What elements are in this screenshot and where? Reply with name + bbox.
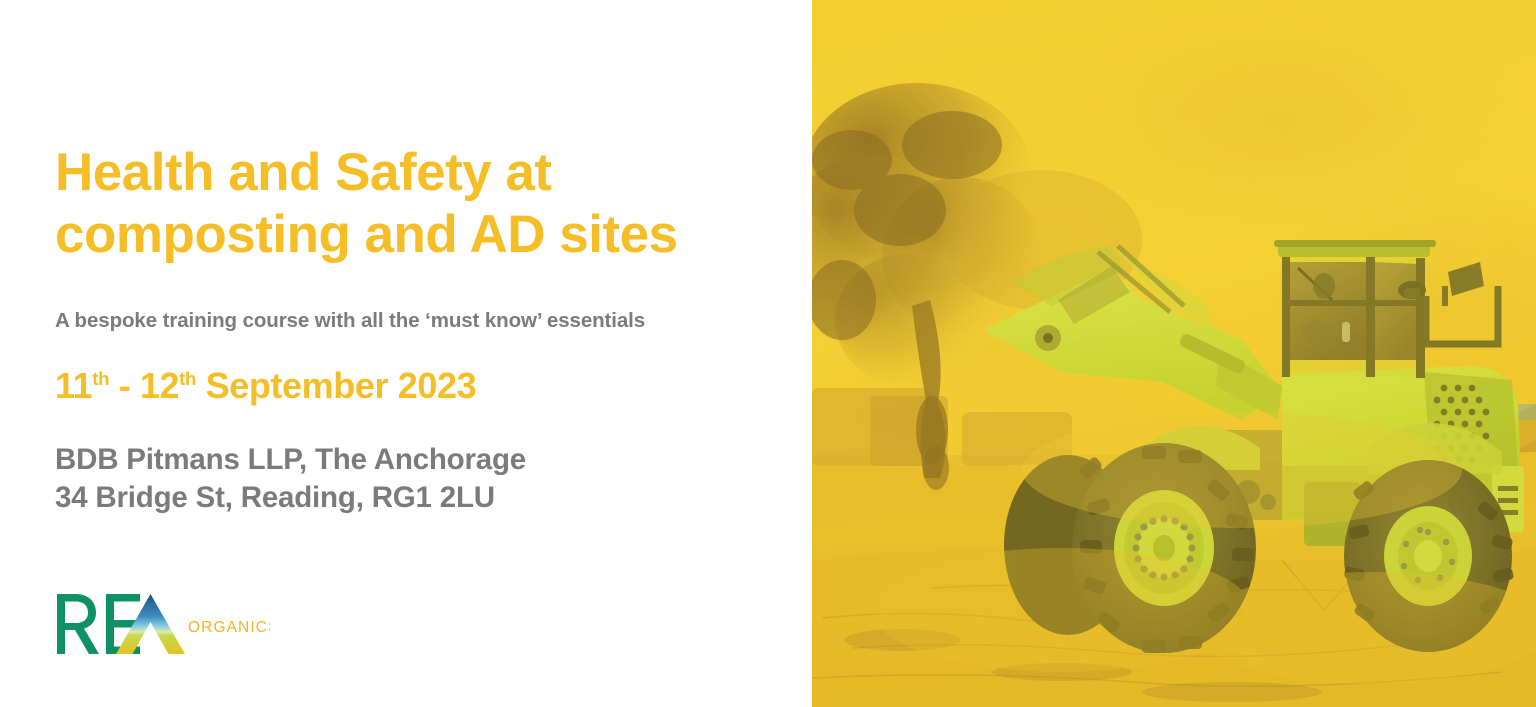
month-year: September 2023 (196, 365, 476, 406)
venue-address: BDB Pitmans LLP, The Anchorage 34 Bridge… (55, 441, 526, 517)
venue-line-2: 34 Bridge St, Reading, RG1 2LU (55, 481, 495, 514)
end-day: 12 (140, 365, 179, 406)
logo-wordmark: ORGANICS (188, 619, 270, 636)
start-day: 11 (55, 365, 92, 406)
venue-line-1: BDB Pitmans LLP, The Anchorage (55, 443, 526, 476)
rea-organics-logo: ORGANICS (55, 592, 270, 656)
start-day-ordinal: th (92, 368, 109, 389)
photo-duotone-overlay (812, 0, 1536, 707)
end-day-ordinal: th (179, 368, 196, 389)
logo-letter-r (57, 594, 99, 654)
course-subtitle: A bespoke training course with all the ‘… (55, 308, 775, 335)
page-title: Health and Safety at composting and AD s… (55, 142, 755, 266)
event-poster: Health and Safety at composting and AD s… (0, 0, 1536, 707)
event-dates: 11th - 12th September 2023 (55, 366, 476, 406)
hero-photo (812, 0, 1536, 707)
date-separator: - (109, 365, 140, 406)
text-panel: Health and Safety at composting and AD s… (0, 0, 812, 707)
